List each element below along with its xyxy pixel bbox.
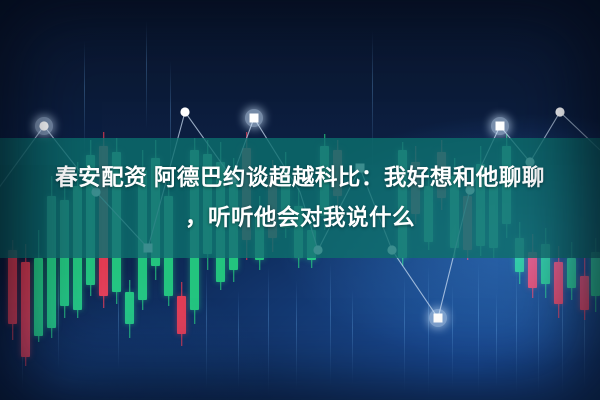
vignette-overlay bbox=[0, 0, 600, 400]
banner-image: 春安配资 阿德巴约谈超越科比：我好想和他聊聊 ，听听他会对我说什么 bbox=[0, 0, 600, 400]
